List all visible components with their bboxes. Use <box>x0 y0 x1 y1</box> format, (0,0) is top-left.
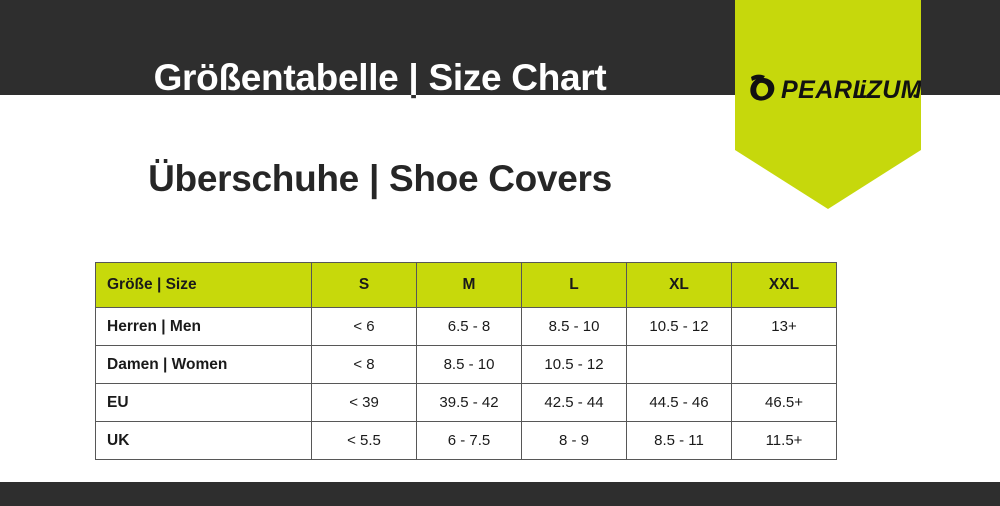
cell-women-xl <box>627 346 732 384</box>
cell-women-m: 8.5 - 10 <box>417 346 522 384</box>
column-header-m: M <box>417 263 522 308</box>
column-header-xxl: XXL <box>732 263 837 308</box>
svg-text:iZUMi: iZUMi <box>859 76 921 104</box>
cell-eu-l: 42.5 - 44 <box>522 384 627 422</box>
footer-band <box>0 482 1000 506</box>
cell-women-l: 10.5 - 12 <box>522 346 627 384</box>
table-row: Herren | Men < 6 6.5 - 8 8.5 - 10 10.5 -… <box>96 308 837 346</box>
table-header-row: Größe | Size S M L XL XXL <box>96 263 837 308</box>
cell-men-xl: 10.5 - 12 <box>627 308 732 346</box>
table-row: UK < 5.5 6 - 7.5 8 - 9 8.5 - 11 11.5+ <box>96 422 837 460</box>
column-header-s: S <box>312 263 417 308</box>
title-block: Größentabelle | Size Chart Größentabelle… <box>0 55 760 147</box>
page-title-line1: Größentabelle | Size Chart <box>0 55 760 101</box>
row-label-women: Damen | Women <box>96 346 312 384</box>
svg-text:PEARL: PEARL <box>781 76 868 104</box>
cell-uk-xxl: 11.5+ <box>732 422 837 460</box>
column-header-xl: XL <box>627 263 732 308</box>
row-label-eu: EU <box>96 384 312 422</box>
cell-women-xxl <box>732 346 837 384</box>
table-row: EU < 39 39.5 - 42 42.5 - 44 44.5 - 46 46… <box>96 384 837 422</box>
cell-uk-m: 6 - 7.5 <box>417 422 522 460</box>
column-header-l: L <box>522 263 627 308</box>
cell-men-xxl: 13+ <box>732 308 837 346</box>
cell-eu-xxl: 46.5+ <box>732 384 837 422</box>
column-header-label: Größe | Size <box>96 263 312 308</box>
cell-eu-m: 39.5 - 42 <box>417 384 522 422</box>
cell-uk-xl: 8.5 - 11 <box>627 422 732 460</box>
cell-eu-s: < 39 <box>312 384 417 422</box>
cell-uk-s: < 5.5 <box>312 422 417 460</box>
row-label-men: Herren | Men <box>96 308 312 346</box>
cell-eu-xl: 44.5 - 46 <box>627 384 732 422</box>
table-row: Damen | Women < 8 8.5 - 10 10.5 - 12 <box>96 346 837 384</box>
cell-men-s: < 6 <box>312 308 417 346</box>
brand-pennant: PEARL iZUMi <box>735 0 921 210</box>
size-chart-page: PEARL iZUMi Größentabelle | Size Chart G… <box>0 0 1000 506</box>
cell-women-s: < 8 <box>312 346 417 384</box>
size-chart-table: Größe | Size S M L XL XXL Herren | Men <… <box>95 262 837 460</box>
page-title-line2: Überschuhe | Shoe Covers <box>0 156 760 202</box>
row-label-uk: UK <box>96 422 312 460</box>
cell-men-l: 8.5 - 10 <box>522 308 627 346</box>
cell-men-m: 6.5 - 8 <box>417 308 522 346</box>
cell-uk-l: 8 - 9 <box>522 422 627 460</box>
